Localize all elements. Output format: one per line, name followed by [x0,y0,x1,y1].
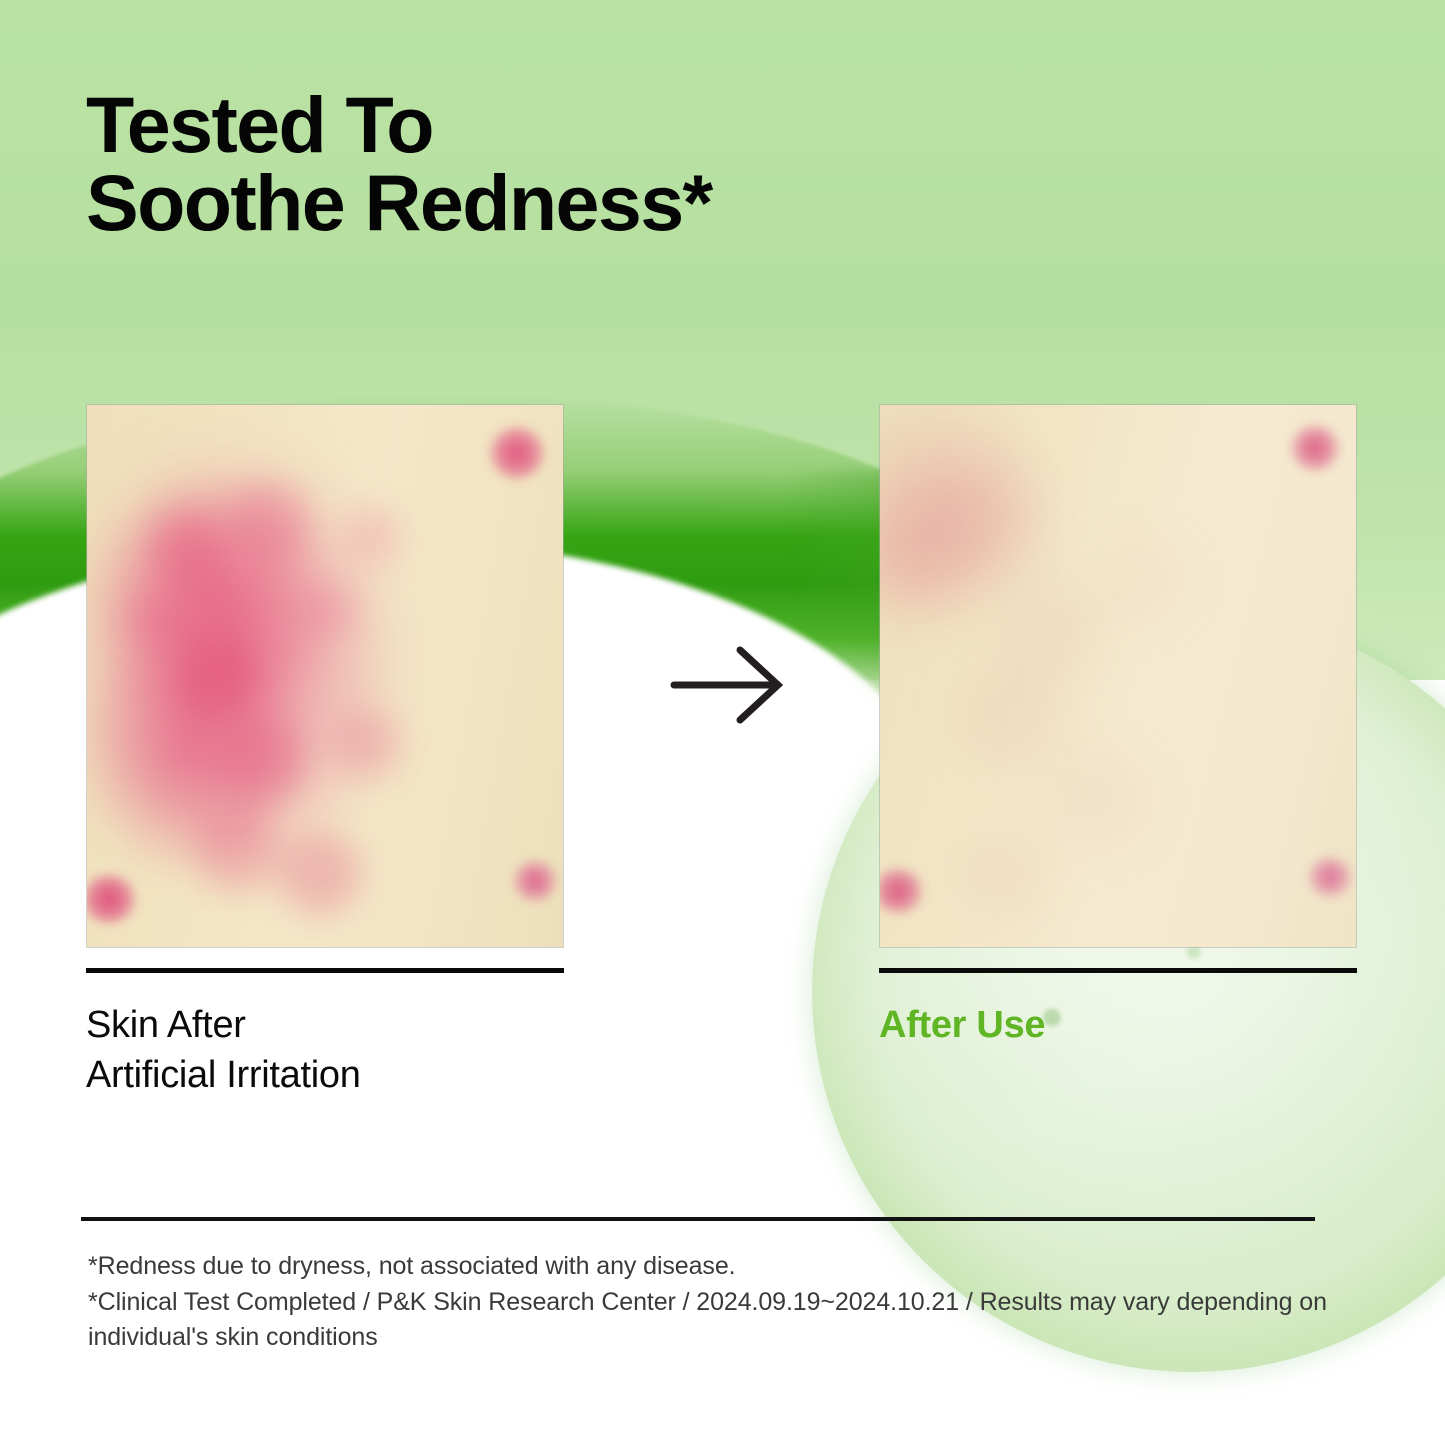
skin-blemish-bottom-right [513,861,557,901]
skin-blemish-top-right [1290,425,1340,471]
page-title: Tested To Soothe Redness* [86,86,986,242]
footnote-line-2: *Clinical Test Completed / P&K Skin Rese… [88,1285,1358,1356]
before-photo [86,404,564,948]
skin-blemish-top-right [489,427,545,479]
footnote-divider [81,1217,1315,1221]
before-caption: Skin After Artificial Irritation [86,1000,646,1100]
arrow-right-icon [668,640,788,730]
skin-blemish-bottom-right [1308,857,1352,897]
redness-mottle [87,405,563,947]
skin-tone-mottle [880,405,1356,947]
footnote-line-1: *Redness due to dryness, not associated … [88,1249,1358,1285]
after-caption-rule [879,968,1357,973]
footnotes: *Redness due to dryness, not associated … [88,1249,1358,1356]
redness-claim-poster: Tested To Soothe Redness* Skin After Art… [0,0,1445,1445]
before-caption-rule [86,968,564,973]
after-photo [879,404,1357,948]
after-caption: After Use [879,1000,1399,1050]
